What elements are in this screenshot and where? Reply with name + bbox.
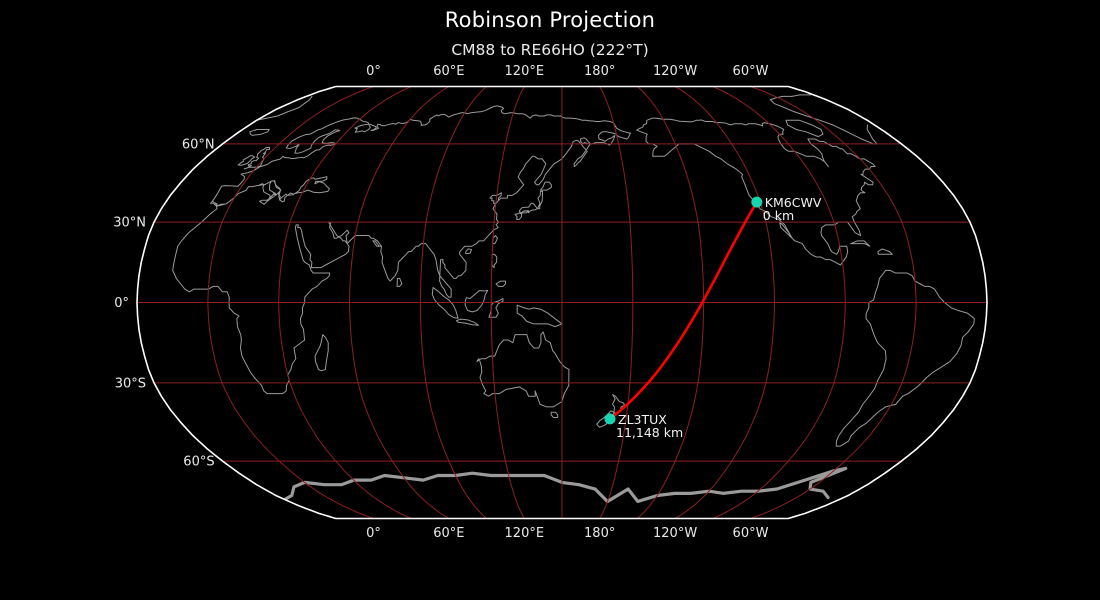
- station-marker-zl3tux[interactable]: [605, 413, 616, 424]
- lon-tick-top-120w: 120°W: [653, 64, 697, 79]
- lat-tick-30s: 30°S: [115, 376, 146, 391]
- figure-canvas: Robinson Projection CM88 to RE66HO (222°…: [0, 0, 1100, 600]
- longitude-tick-labels-bottom: 60°E 120°E 180° 120°W 60°W 0°: [366, 526, 768, 541]
- robinson-map: 60°N 30°N 0° 30°S 60°S 60°E 120°E 180° 1…: [0, 0, 1100, 600]
- lon-tick-top-60w: 60°W: [733, 64, 769, 79]
- lon-tick-top-120e: 120°E: [505, 64, 545, 79]
- lon-tick-top-0: 0°: [366, 64, 381, 79]
- lon-tick-bottom-120e: 120°E: [505, 526, 545, 541]
- lon-tick-bottom-120w: 120°W: [653, 526, 697, 541]
- station-distance-zl3tux: 11,148 km: [616, 425, 683, 440]
- station-distance-km6cwv: 0 km: [763, 208, 794, 223]
- lat-tick-60n: 60°N: [182, 137, 215, 152]
- lon-tick-top-180: 180°: [584, 64, 615, 79]
- lat-tick-0: 0°: [114, 296, 129, 311]
- lon-tick-bottom-60w: 60°W: [733, 526, 769, 541]
- lat-tick-30n: 30°N: [113, 216, 146, 231]
- lon-tick-top-60e: 60°E: [433, 64, 464, 79]
- lon-tick-bottom-0: 0°: [366, 526, 381, 541]
- station-marker-km6cwv[interactable]: [751, 197, 762, 208]
- longitude-tick-labels-top: 60°E 120°E 180° 120°W 60°W 0°: [366, 64, 768, 79]
- lat-tick-60s: 60°S: [183, 455, 214, 470]
- lon-tick-bottom-180: 180°: [584, 526, 615, 541]
- lon-tick-bottom-60e: 60°E: [433, 526, 464, 541]
